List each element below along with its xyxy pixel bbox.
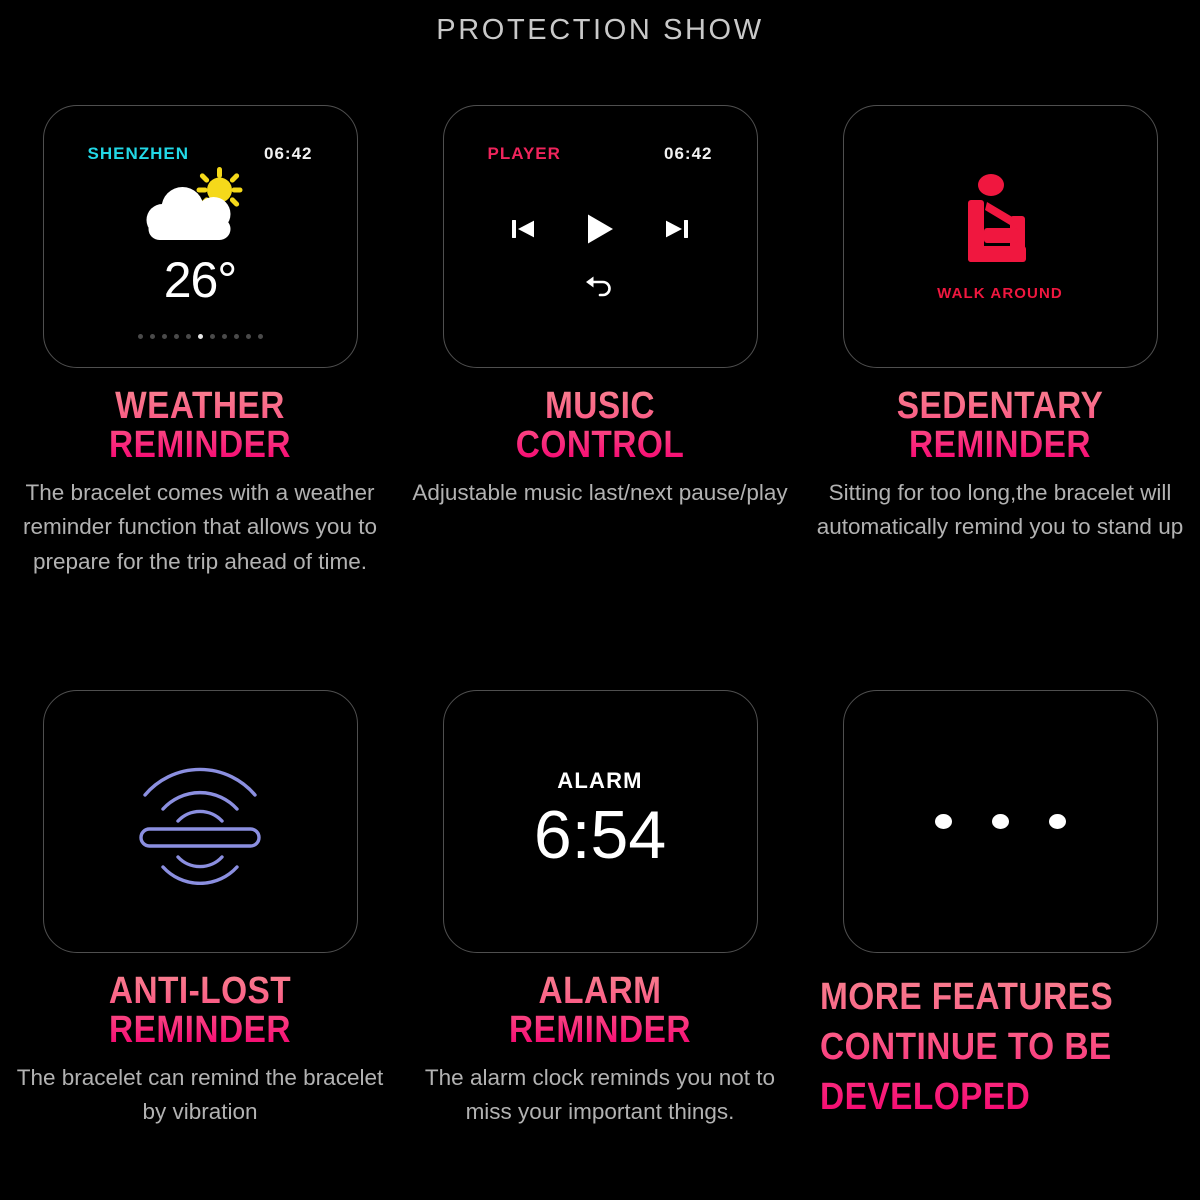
feature-description: Sitting for too long,the bracelet will a… — [806, 476, 1194, 544]
alarm-label: ALARM — [557, 768, 642, 794]
feature-card-sedentary-reminder: WALK AROUND SEDENTARY REMINDER Sitting f… — [800, 95, 1200, 680]
feature-title-line: WEATHER — [29, 387, 370, 426]
previous-track-icon[interactable] — [509, 215, 537, 248]
page-dot — [210, 334, 215, 339]
page-dot — [162, 334, 167, 339]
feature-title-line: DEVELOPED — [820, 1072, 1149, 1122]
page-dot-active — [198, 334, 203, 339]
feature-title-line: MUSIC — [429, 387, 770, 426]
page-dots-indicator[interactable] — [44, 334, 357, 339]
feature-title-line: CONTROL — [429, 426, 770, 465]
play-icon[interactable] — [581, 210, 619, 253]
feature-title: SEDENTARY REMINDER — [829, 387, 1170, 465]
caption-music-control: MUSIC CONTROL Adjustable music last/next… — [400, 387, 800, 510]
weather-temperature: 26° — [44, 251, 357, 309]
feature-card-weather-reminder: SHENZHEN 06:42 — [0, 95, 400, 680]
page-dot — [258, 334, 263, 339]
feature-grid: SHENZHEN 06:42 — [0, 95, 1200, 1200]
page-dot — [150, 334, 155, 339]
watch-screen-player[interactable]: PLAYER 06:42 — [443, 105, 758, 368]
sun-behind-cloud-icon — [44, 166, 357, 248]
feature-title-line: MORE FEATURES — [820, 972, 1149, 1022]
feature-title-line: REMINDER — [829, 426, 1170, 465]
weather-clock-label: 06:42 — [264, 144, 312, 164]
screen-topbar: SHENZHEN 06:42 — [44, 144, 357, 164]
feature-description: The bracelet comes with a weather remind… — [6, 476, 394, 579]
feature-title: MORE FEATURES CONTINUE TO BE DEVELOPED — [820, 972, 1149, 1122]
caption-more-features: MORE FEATURES CONTINUE TO BE DEVELOPED — [800, 972, 1200, 1122]
feature-card-more-features: MORE FEATURES CONTINUE TO BE DEVELOPED — [800, 680, 1200, 1200]
feature-title: ANTI-LOST REMINDER — [29, 972, 370, 1050]
feature-title: MUSIC CONTROL — [429, 387, 770, 465]
feature-description: The bracelet can remind the bracelet by … — [6, 1061, 394, 1129]
caption-alarm-reminder: ALARM REMINDER The alarm clock reminds y… — [400, 972, 800, 1130]
watch-screen-weather[interactable]: SHENZHEN 06:42 — [43, 105, 358, 368]
watch-screen-more[interactable] — [843, 690, 1158, 953]
ellipsis-dot — [1049, 814, 1066, 829]
feature-title-line: ALARM — [429, 972, 770, 1011]
sedentary-content: WALK AROUND — [844, 106, 1157, 367]
alarm-content: ALARM 6:54 — [444, 691, 757, 952]
seated-person-icon — [954, 172, 1046, 273]
page-title: PROTECTION SHOW — [0, 14, 1200, 47]
feature-title: WEATHER REMINDER — [29, 387, 370, 465]
ellipsis-dot — [935, 814, 952, 829]
page-dot — [222, 334, 227, 339]
feature-card-anti-lost-reminder: ANTI-LOST REMINDER The bracelet can remi… — [0, 680, 400, 1200]
caption-sedentary-reminder: SEDENTARY REMINDER Sitting for too long,… — [800, 387, 1200, 545]
ellipsis-dot — [992, 814, 1009, 829]
back-arrow-icon[interactable] — [583, 274, 617, 305]
player-label: PLAYER — [488, 144, 561, 164]
player-clock-label: 06:42 — [664, 144, 712, 164]
protection-show-page: PROTECTION SHOW SHENZHEN 06:42 — [0, 0, 1200, 1200]
feature-title-line: REMINDER — [429, 1011, 770, 1050]
alarm-time: 6:54 — [534, 796, 666, 874]
ellipsis-icon — [844, 691, 1157, 952]
feature-description: Adjustable music last/next pause/play — [406, 476, 794, 510]
page-dot — [138, 334, 143, 339]
vibration-waves-icon — [125, 753, 275, 890]
page-dot — [234, 334, 239, 339]
feature-title-line: SEDENTARY — [829, 387, 1170, 426]
feature-card-alarm-reminder: ALARM 6:54 ALARM REMINDER The alarm cloc… — [400, 680, 800, 1200]
page-dot — [186, 334, 191, 339]
sedentary-label: WALK AROUND — [937, 285, 1063, 302]
feature-title-line: REMINDER — [29, 426, 370, 465]
antilost-content — [44, 691, 357, 952]
feature-title: ALARM REMINDER — [429, 972, 770, 1050]
caption-weather-reminder: WEATHER REMINDER The bracelet comes with… — [0, 387, 400, 579]
caption-anti-lost-reminder: ANTI-LOST REMINDER The bracelet can remi… — [0, 972, 400, 1130]
player-back-row — [444, 274, 757, 305]
feature-title-line: ANTI-LOST — [29, 972, 370, 1011]
screen-topbar: PLAYER 06:42 — [444, 144, 757, 164]
weather-location-label: SHENZHEN — [88, 144, 190, 164]
feature-title-line: CONTINUE TO BE — [820, 1022, 1149, 1072]
watch-screen-sedentary[interactable]: WALK AROUND — [843, 105, 1158, 368]
player-controls — [444, 210, 757, 253]
feature-card-music-control: PLAYER 06:42 — [400, 95, 800, 680]
next-track-icon[interactable] — [663, 215, 691, 248]
page-dot — [174, 334, 179, 339]
page-dot — [246, 334, 251, 339]
feature-description: The alarm clock reminds you not to miss … — [406, 1061, 794, 1129]
watch-screen-antilost[interactable] — [43, 690, 358, 953]
watch-screen-alarm[interactable]: ALARM 6:54 — [443, 690, 758, 953]
feature-title-line: REMINDER — [29, 1011, 370, 1050]
